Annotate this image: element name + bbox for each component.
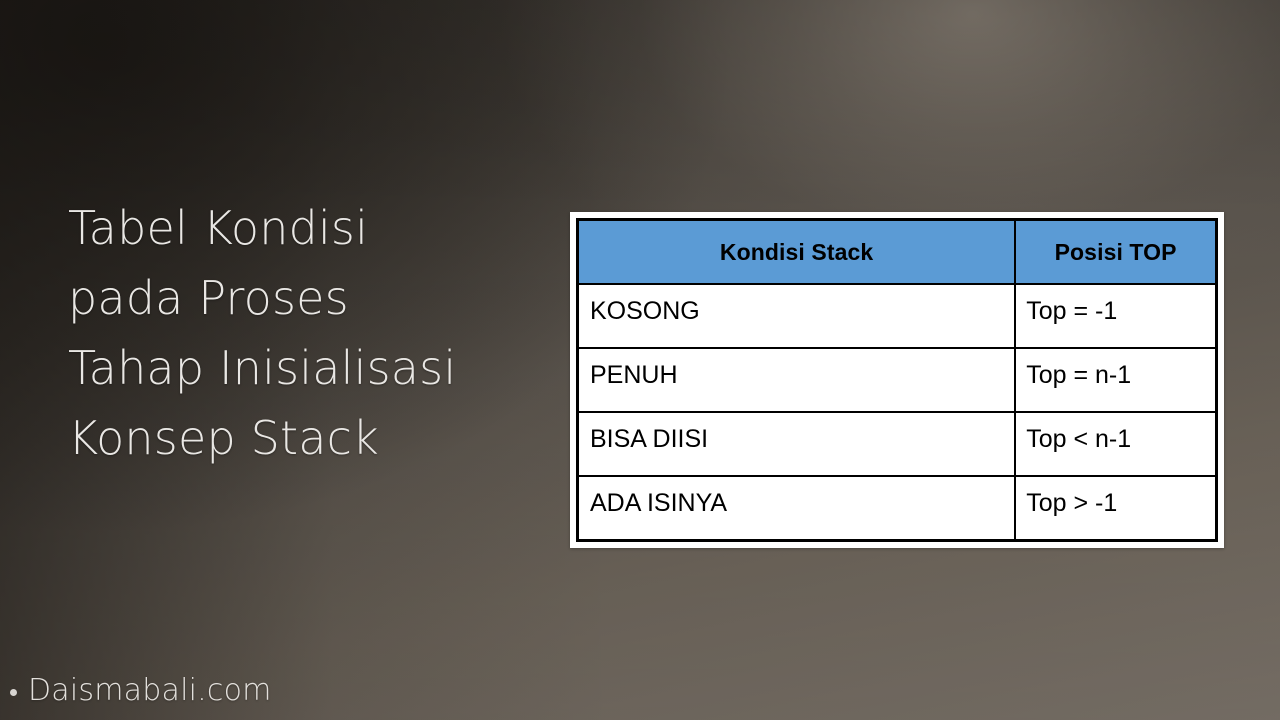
table-header-row: Kondisi Stack Posisi TOP [578, 220, 1217, 285]
cell-kondisi-text: BISA DIISI [579, 426, 1014, 452]
column-header-posisi-top: Posisi TOP [1015, 220, 1216, 285]
slide-canvas: Tabel Kondisi pada Proses Tahap Inisiali… [0, 0, 1280, 720]
page-title: Tabel Kondisi pada Proses Tahap Inisiali… [68, 193, 498, 473]
cell-posisi: Top > -1 [1015, 476, 1216, 541]
table-row: BISA DIISI Top < n-1 [578, 412, 1217, 476]
stack-condition-table: Kondisi Stack Posisi TOP KOSONG Top = -1… [576, 218, 1218, 542]
cell-posisi: Top < n-1 [1015, 412, 1216, 476]
footer-text: Daismabali.com [28, 673, 272, 708]
cell-posisi-text: Top > -1 [1016, 490, 1215, 516]
footer-bullet-item: Daismabali.com [10, 673, 272, 708]
table-header: Kondisi Stack Posisi TOP [578, 220, 1217, 285]
table-row: PENUH Top = n-1 [578, 348, 1217, 412]
column-header-kondisi-stack: Kondisi Stack [578, 220, 1016, 285]
cell-kondisi-text: KOSONG [579, 298, 1014, 324]
cell-kondisi: KOSONG [578, 284, 1016, 348]
cell-kondisi-text: ADA ISINYA [579, 490, 1014, 516]
cell-posisi-text: Top = n-1 [1016, 362, 1215, 388]
title-placeholder: Tabel Kondisi pada Proses Tahap Inisiali… [68, 193, 498, 473]
cell-posisi-text: Top = -1 [1016, 298, 1215, 324]
cell-posisi: Top = n-1 [1015, 348, 1216, 412]
table-body: KOSONG Top = -1 PENUH Top = n-1 [578, 284, 1217, 541]
table-row: ADA ISINYA Top > -1 [578, 476, 1217, 541]
table-frame: Kondisi Stack Posisi TOP KOSONG Top = -1… [570, 212, 1224, 548]
table-row: KOSONG Top = -1 [578, 284, 1217, 348]
cell-kondisi: BISA DIISI [578, 412, 1016, 476]
cell-posisi: Top = -1 [1015, 284, 1216, 348]
bullet-dot-icon [10, 689, 17, 696]
cell-kondisi-text: PENUH [579, 362, 1014, 388]
cell-kondisi: ADA ISINYA [578, 476, 1016, 541]
cell-kondisi: PENUH [578, 348, 1016, 412]
cell-posisi-text: Top < n-1 [1016, 426, 1215, 452]
